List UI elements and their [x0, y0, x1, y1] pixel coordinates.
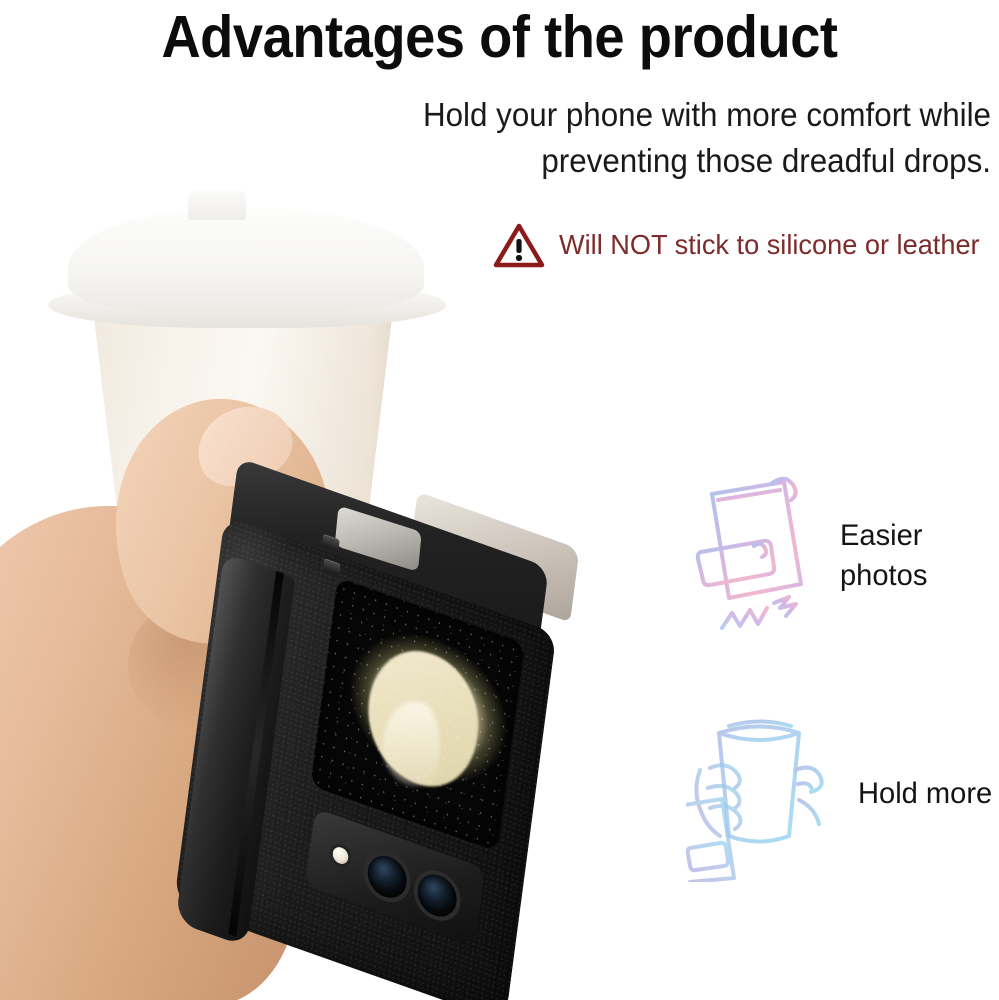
cup-lid-top: [68, 208, 424, 312]
cup-spout: [188, 190, 246, 220]
hand-holding-cup-and-phone-illustration-icon: [686, 706, 836, 882]
feature-hold-more: Hold more: [686, 706, 996, 882]
feature-label-easier-photos: Easier photos: [840, 516, 927, 596]
feature-label-hold-more: Hold more: [858, 774, 992, 814]
product-photo: Life Is Tasty: [0, 0, 640, 1000]
product-advantages-infographic: Advantages of the product Hold your phon…: [0, 0, 999, 1000]
phone-with-ring-illustration-icon: [688, 468, 818, 644]
feature-easier-photos: Easier photos: [688, 468, 930, 644]
folded-phone-in-case: [159, 490, 589, 1000]
